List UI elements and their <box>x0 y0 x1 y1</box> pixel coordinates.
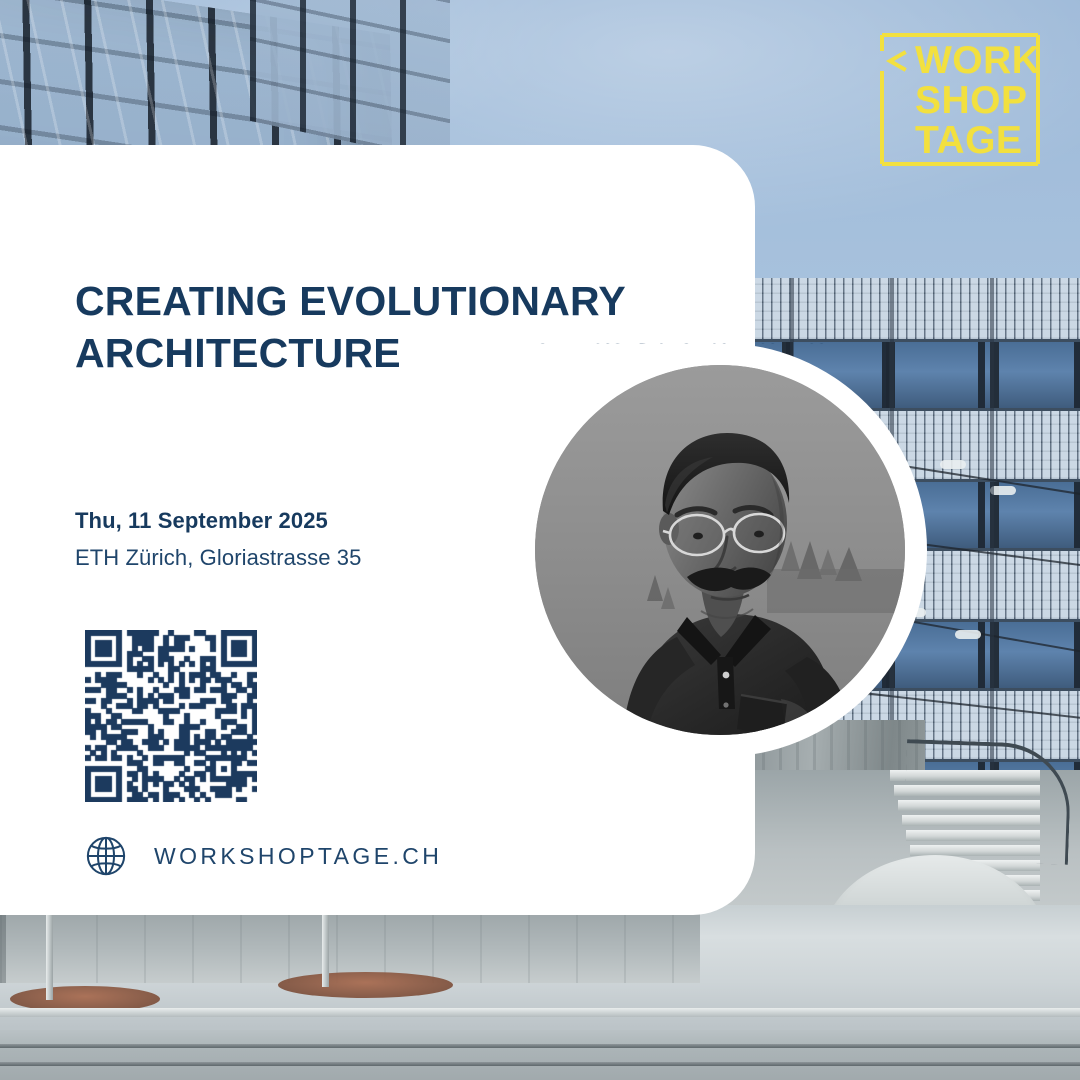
logo-line-shop: SHOP <box>915 79 1028 122</box>
catenary-insulator <box>955 630 981 639</box>
qr-code[interactable] <box>85 630 257 802</box>
tram-rail <box>0 1044 1080 1048</box>
curb <box>0 1008 1080 1017</box>
catenary-insulator <box>990 486 1016 495</box>
window-mullion <box>990 622 999 688</box>
lamp-pole <box>46 905 53 1000</box>
qr-code-canvas[interactable] <box>85 630 257 802</box>
window-mullion <box>886 342 895 408</box>
lamp-pole <box>322 905 329 987</box>
event-poster: CREATING EVOLUTIONARY ARCHITECTURE Thu, … <box>0 0 1080 1080</box>
tram-track-bed <box>0 1030 1080 1080</box>
workshoptage-logo[interactable]: WORK SHOP TAGE <box>873 33 1040 166</box>
globe-icon <box>85 835 127 877</box>
window-mullion <box>990 342 999 408</box>
chevron-left-icon <box>890 53 904 69</box>
logo-line-tage: TAGE <box>915 119 1022 162</box>
tree-planter <box>278 972 453 998</box>
website-url: WORKSHOPTAGE.CH <box>154 843 442 870</box>
tram-rail <box>0 1062 1080 1066</box>
speaker-portrait <box>535 365 905 735</box>
logo-line-work: WORK <box>915 39 1040 82</box>
website-link[interactable]: WORKSHOPTAGE.CH <box>85 835 442 877</box>
page-title: CREATING EVOLUTIONARY ARCHITECTURE <box>75 275 635 380</box>
catenary-insulator <box>940 460 966 469</box>
